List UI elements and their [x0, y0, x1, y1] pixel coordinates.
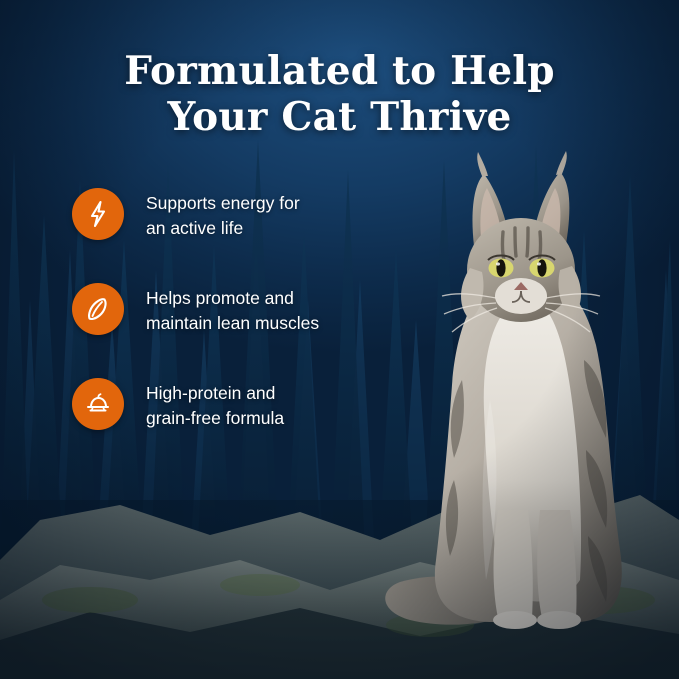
feature-text-energy: Supports energy for an active life [146, 191, 300, 241]
feature-list: Supports energy for an active life Helps… [72, 188, 372, 431]
feature-text-protein: High-protein and grain-free formula [146, 381, 284, 431]
headline-line-1: Formulated to Help [124, 48, 554, 94]
feature-text-muscles: Helps promote and maintain lean muscles [146, 286, 319, 336]
roast-chicken-icon [72, 378, 124, 430]
maine-coon-cat [370, 150, 660, 650]
lightning-bolt-icon [72, 188, 124, 240]
feature-item-muscles: Helps promote and maintain lean muscles [72, 283, 372, 336]
muscle-fiber-icon [72, 283, 124, 335]
page-title: Formulated to Help Your Cat Thrive [0, 48, 679, 140]
feature-item-energy: Supports energy for an active life [72, 188, 372, 241]
product-feature-image: Formulated to Help Your Cat Thrive Suppo… [0, 0, 679, 679]
headline-line-2: Your Cat Thrive [0, 94, 679, 140]
feature-item-protein: High-protein and grain-free formula [72, 378, 372, 431]
